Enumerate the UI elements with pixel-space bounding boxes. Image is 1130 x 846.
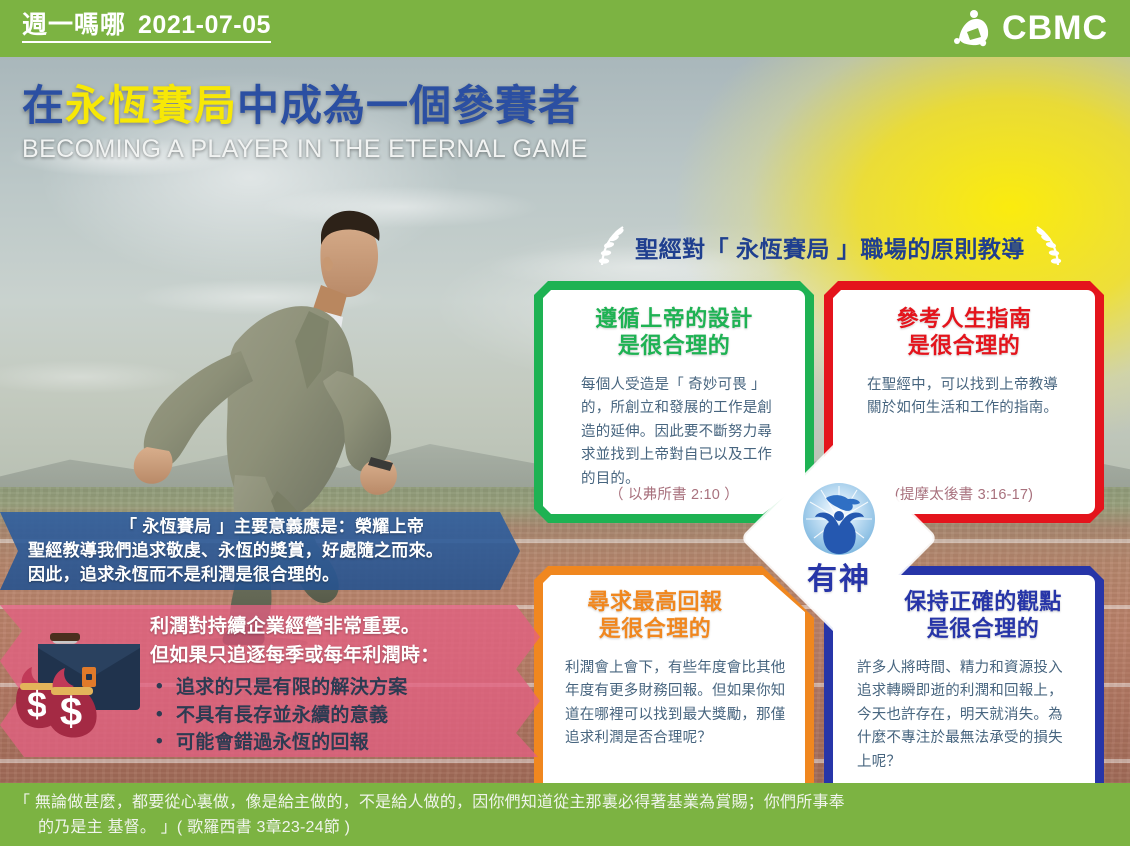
top-header-bar: 週一嗎哪2021-07-05 CBMC [0, 0, 1130, 57]
hero-subtitle: BECOMING A PLAYER IN THE ETERNAL GAME [22, 135, 588, 164]
brand-name: CBMC [1002, 11, 1108, 45]
list-item: 不具有長存並永續的意義 [150, 702, 540, 730]
hero-title-seg3: 中成為一個參賽者 [237, 82, 581, 129]
hero-title: 在永恆賽局中成為一個參賽者 [22, 85, 581, 127]
principle-card-orange-inner: 尋求最高回報 是很合理的 利潤會上會下，有些年度會比其他年度有更多財務回報。但如… [543, 575, 805, 783]
principle-card-blue-title: 保持正確的觀點 是很合理的 [885, 589, 1081, 643]
page-title-date: 2021-07-05 [138, 11, 271, 39]
principle-card-blue-inner: 保持正確的觀點 是很合理的 許多人將時間、精力和資源投入追求轉瞬即逝的利潤和回報… [833, 575, 1095, 783]
section-heading: 聖經對「 永恆賽局 」職場的原則教導 [585, 225, 1075, 269]
page-title-label: 週一嗎哪 [22, 11, 126, 39]
brand-logo: CBMC [952, 8, 1108, 48]
laurel-branch-left-icon [595, 225, 629, 269]
hero-title-seg2: 永恆賽局 [65, 82, 237, 129]
pink-ribbon-text: 利潤對持續企業經營非常重要。 但如果只追逐每季或每年利潤時： 追求的只是有限的解… [150, 613, 540, 757]
principle-card-green-body: 每個人受造是「 奇妙可畏 」的，所創立和發展的工作是創造的延伸。因此要不斷努力尋… [581, 374, 781, 491]
principle-card-green-reference: （ 以弗所書 2:10 ） [543, 483, 805, 504]
infographic-page: 週一嗎哪2021-07-05 CBMC [0, 0, 1130, 846]
principle-card-green-title: 遵循上帝的設計 是很合理的 [557, 306, 791, 360]
footer-line2: 的乃是主 基督。 」( 歌羅西書 3章23-24節 ) [14, 816, 1122, 841]
blue-ribbon-line3: 因此，追求永恆而不是利潤是很合理的。 [28, 563, 443, 587]
card-title-line2: 是很合理的 [557, 616, 753, 643]
principle-card-orange-body: 利潤會上會下，有些年度會比其他年度有更多財務回報。但如果你知道在哪裡可以找到最大… [565, 657, 787, 751]
svg-text:$: $ [27, 684, 47, 725]
laurel-branch-right-icon [1031, 225, 1065, 269]
pink-ribbon-bullet-list: 追求的只是有限的解決方案 不具有長存並永續的意義 可能會錯過永恆的回報 [150, 674, 540, 757]
footer-scripture: 「 無論做甚麼，都要從心裏做，像是給主做的，不是給人做的，因你們知道從主那裏必得… [14, 791, 1122, 841]
footer-bar: 「 無論做甚麼，都要從心裏做，像是給主做的，不是給人做的，因你們知道從主那裏必得… [0, 783, 1130, 846]
worshipper-dove-logo-icon [802, 482, 876, 556]
principle-card-green-inner: 遵循上帝的設計 是很合理的 每個人受造是「 奇妙可畏 」的，所創立和發展的工作是… [543, 290, 805, 514]
card-title-line1: 遵循上帝的設計 [557, 306, 791, 333]
center-diamond-label: 有神 [807, 554, 871, 598]
pink-ribbon-heading: 利潤對持續企業經營非常重要。 但如果只追逐每季或每年利潤時： [150, 613, 540, 670]
card-title-line1: 尋求最高回報 [557, 589, 753, 616]
principle-card-red-body: 在聖經中，可以找到上帝教導關於如何生活和工作的指南。 [867, 374, 1069, 421]
page-title: 週一嗎哪2021-07-05 [22, 12, 271, 43]
hero-title-seg1: 在 [22, 82, 65, 129]
footer-line1: 「 無論做甚麼，都要從心裏做，像是給主做的，不是給人做的，因你們知道從主那裏必得… [14, 791, 1122, 816]
blue-ribbon-line1: 「 永恆賽局 」主要意義應是：榮耀上帝 [28, 515, 443, 539]
card-title-line2: 是很合理的 [847, 333, 1081, 360]
svg-text:$: $ [60, 690, 82, 734]
pink-ribbon-line2: 但如果只追逐每季或每年利潤時： [150, 642, 540, 671]
blue-ribbon-line2: 聖經教導我們追求敬虔、永恆的獎賞，好處隨之而來。 [28, 539, 443, 563]
principle-card-blue-body: 許多人將時間、精力和資源投入追求轉瞬即逝的利潤和回報上，今天也許存在，明天就消失… [857, 657, 1075, 774]
cbmc-logo-icon [952, 8, 994, 48]
center-diamond: 有神 [771, 470, 907, 606]
briefcase-money-bags-icon: $ $ [8, 617, 140, 739]
card-title-line1: 保持正確的觀點 [885, 589, 1081, 616]
card-title-line2: 是很合理的 [557, 333, 791, 360]
card-title-line2: 是很合理的 [885, 616, 1081, 643]
blue-ribbon-banner: 「 永恆賽局 」主要意義應是：榮耀上帝 聖經教導我們追求敬虔、永恆的獎賞，好處隨… [0, 512, 520, 590]
card-title-line1: 參考人生指南 [847, 306, 1081, 333]
section-heading-text: 聖經對「 永恆賽局 」職場的原則教導 [635, 230, 1025, 264]
principle-card-orange-title: 尋求最高回報 是很合理的 [557, 589, 753, 643]
blue-ribbon-text: 「 永恆賽局 」主要意義應是：榮耀上帝 聖經教導我們追求敬虔、永恆的獎賞，好處隨… [0, 515, 463, 587]
list-item: 可能會錯過永恆的回報 [150, 729, 540, 757]
main-stage: 在永恆賽局中成為一個參賽者 BECOMING A PLAYER IN THE E… [0, 57, 1130, 783]
pink-ribbon-line1: 利潤對持續企業經營非常重要。 [150, 613, 540, 642]
list-item: 追求的只是有限的解決方案 [150, 674, 540, 702]
principle-card-red-title: 參考人生指南 是很合理的 [847, 306, 1081, 360]
